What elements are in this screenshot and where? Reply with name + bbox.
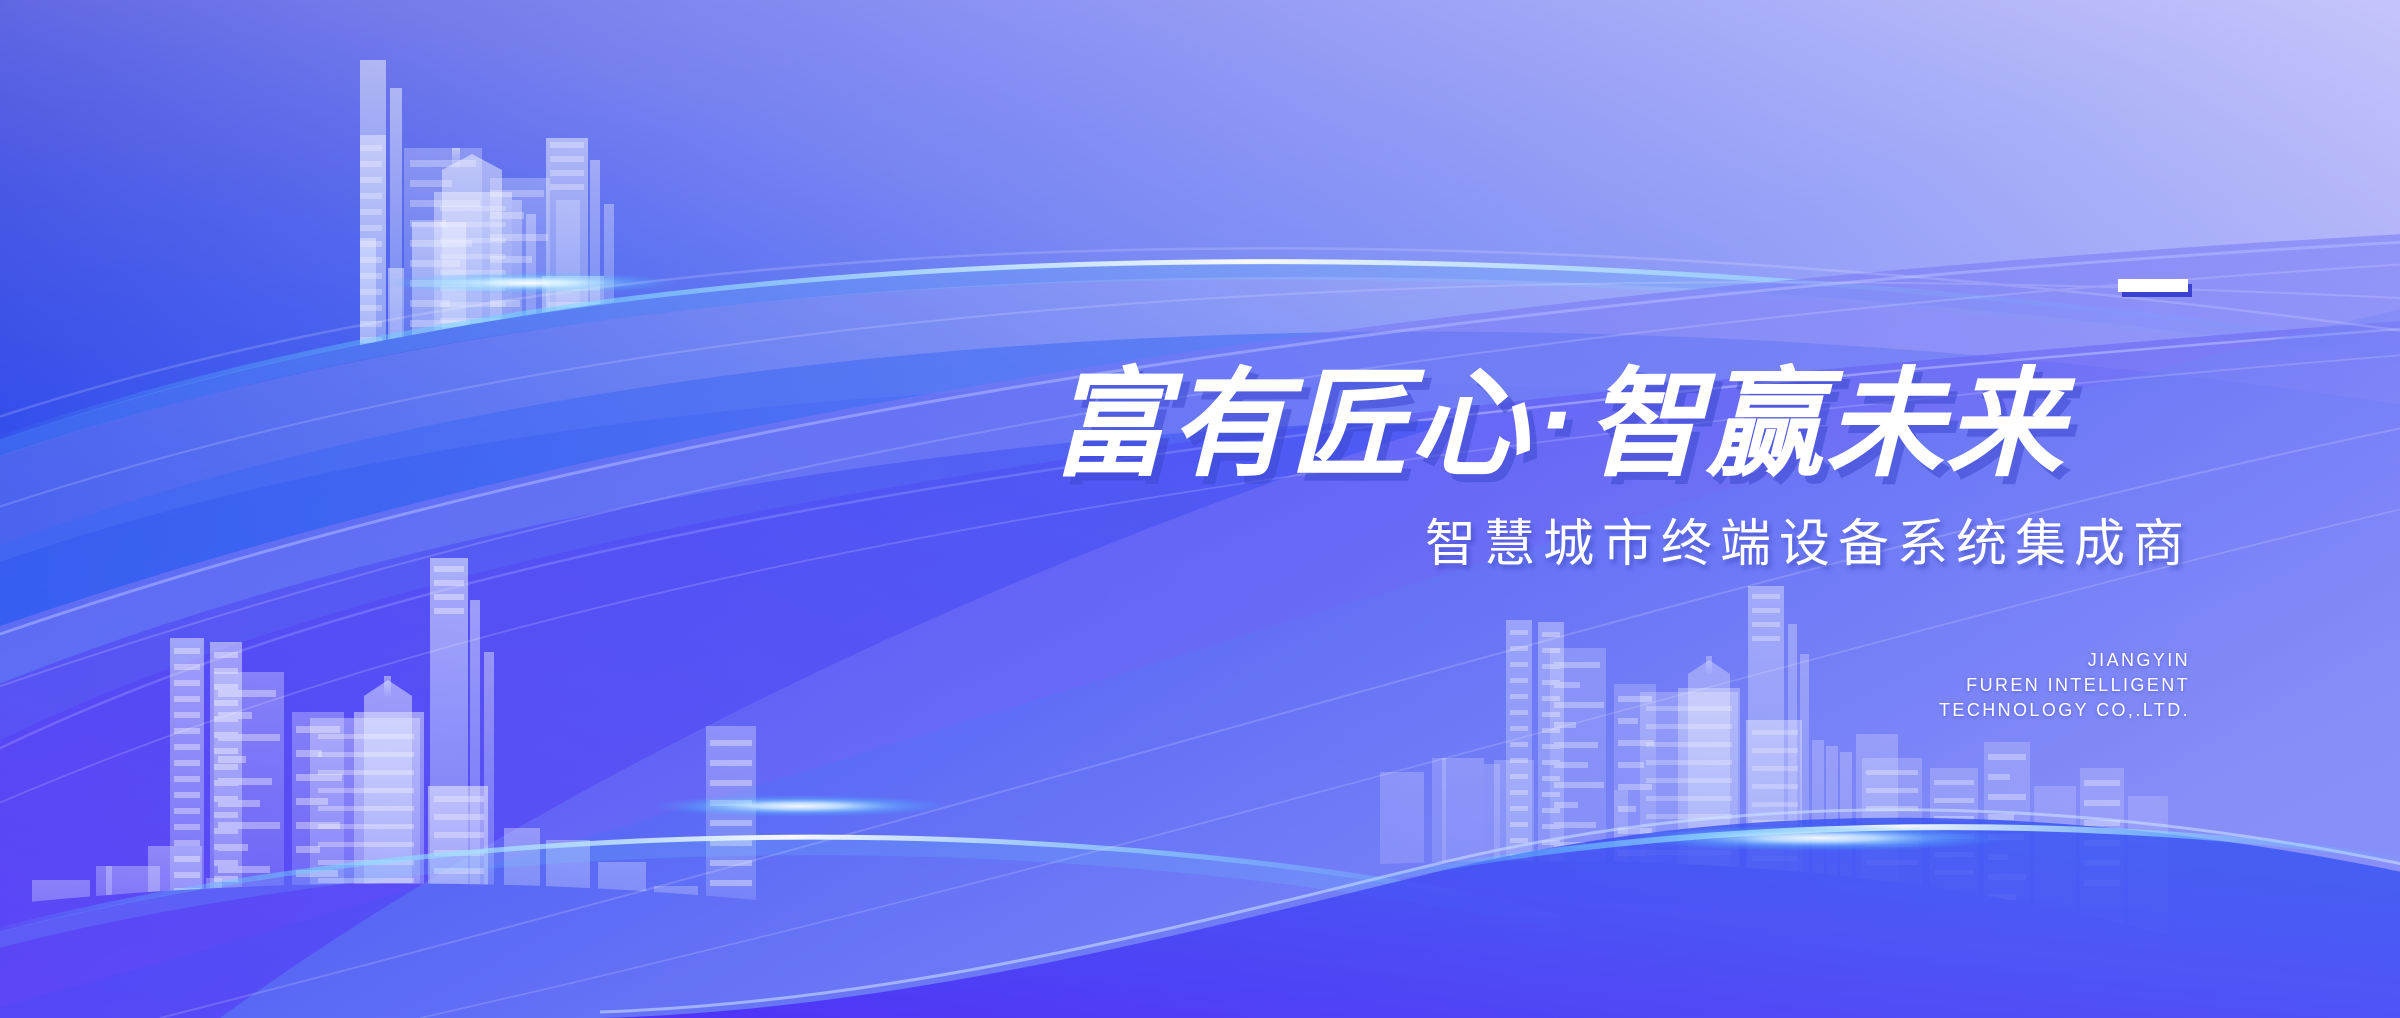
banner-canvas: 富有匠心·智赢未来 智慧城市终端设备系统集成商 JIANGYIN FUREN I… (0, 0, 2400, 1018)
background-artwork (0, 0, 2400, 1018)
